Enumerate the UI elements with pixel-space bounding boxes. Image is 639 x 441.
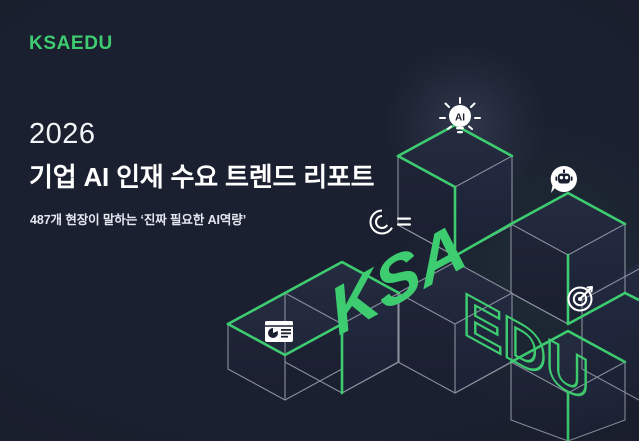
report-cover: KSA EDU AI — [0, 0, 639, 441]
ai-lightbulb-icon: AI — [440, 98, 480, 133]
page-title: 기업 AI 인재 수요 트렌드 리포트 — [29, 157, 374, 194]
presentation-chart-icon — [265, 321, 293, 342]
page-subtitle: 487개 현장이 말하는 ‘진짜 필요한 AI역량’ — [30, 209, 246, 228]
report-year: 2026 — [29, 118, 96, 151]
ai-lightbulb-label: AI — [455, 112, 465, 123]
brand-logo: KSAEDU — [29, 33, 113, 55]
chat-robot-icon — [551, 166, 577, 193]
